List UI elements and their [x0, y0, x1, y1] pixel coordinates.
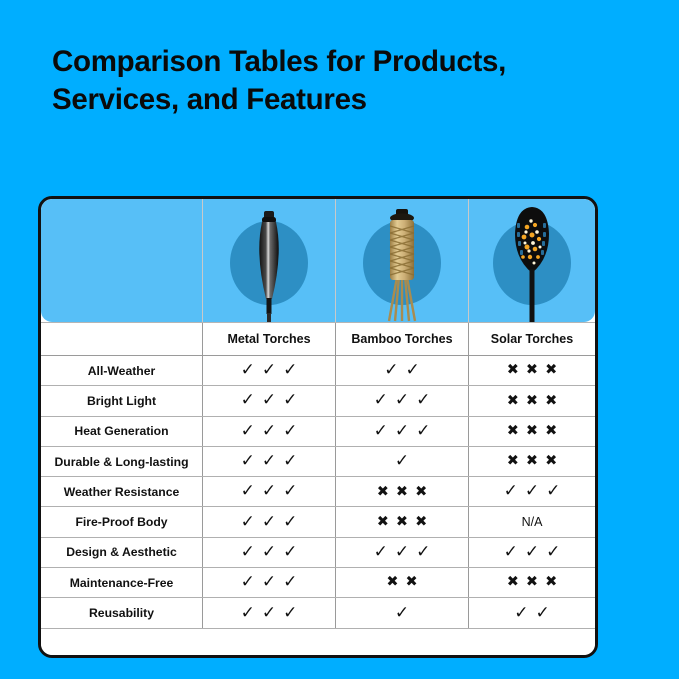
cross-icon: ✖ [415, 515, 427, 530]
cross-icon: ✖ [526, 363, 538, 378]
check-icon: ✓ [262, 392, 276, 409]
cross-icon: ✖ [507, 454, 519, 469]
header-cell-bamboo-torches [335, 199, 468, 322]
check-icon: ✓ [241, 423, 255, 440]
cross-icon: ✖ [406, 575, 418, 590]
rating-cell: ✖✖ [335, 568, 468, 597]
table-row: Bright Light✓✓✓✓✓✓✖✖✖ [41, 386, 595, 416]
rating-cell: ✓✓✓ [202, 568, 335, 597]
rating-marks: ✓✓ [384, 362, 420, 379]
rating-cell: ✖✖✖ [468, 447, 595, 476]
rating-cell: ✓✓✓ [202, 386, 335, 415]
row-feature-label: Durable & Long-lasting [41, 447, 202, 476]
cross-icon: ✖ [377, 515, 389, 530]
check-icon: ✓ [283, 362, 297, 379]
not-applicable-label: N/A [522, 516, 543, 529]
rating-cell: ✓✓✓ [468, 477, 595, 506]
rating-marks: ✖✖✖ [377, 485, 427, 500]
check-icon: ✓ [262, 423, 276, 440]
rating-marks: ✓✓ [514, 605, 550, 622]
rating-marks: ✓✓✓ [241, 605, 298, 622]
rating-cell: ✓✓✓ [335, 538, 468, 567]
header-cell-empty [41, 199, 202, 322]
check-icon: ✓ [395, 392, 409, 409]
rating-cell: ✖✖✖ [468, 417, 595, 446]
rating-cell: ✓✓ [335, 356, 468, 385]
rating-cell: ✓ [335, 447, 468, 476]
rating-marks: ✓✓✓ [241, 574, 298, 591]
check-icon: ✓ [374, 544, 388, 561]
check-icon: ✓ [395, 605, 409, 622]
table-row: Reusability✓✓✓✓✓✓ [41, 598, 595, 628]
rating-marks: ✖✖✖ [507, 394, 557, 409]
check-icon: ✓ [395, 453, 409, 470]
cross-icon: ✖ [526, 454, 538, 469]
rating-cell: ✖✖✖ [468, 386, 595, 415]
page-title: Comparison Tables for Products, Services… [52, 43, 632, 119]
rating-cell: ✖✖✖ [335, 507, 468, 536]
rating-cell: ✖✖✖ [335, 477, 468, 506]
check-icon: ✓ [241, 544, 255, 561]
comparison-table: Metal Torches Bamboo Torches Solar Torch… [38, 196, 598, 658]
cross-icon: ✖ [507, 575, 519, 590]
cross-icon: ✖ [545, 394, 557, 409]
check-icon: ✓ [283, 544, 297, 561]
check-icon: ✓ [262, 362, 276, 379]
table-row: Maintenance-Free✓✓✓✖✖✖✖✖ [41, 568, 595, 598]
check-icon: ✓ [525, 483, 539, 500]
rating-cell: N/A [468, 507, 595, 536]
check-icon: ✓ [241, 574, 255, 591]
product-image-header-band [41, 199, 595, 322]
check-icon: ✓ [504, 483, 518, 500]
check-icon: ✓ [406, 362, 420, 379]
column-label-row: Metal Torches Bamboo Torches Solar Torch… [41, 322, 595, 356]
table-row: Durable & Long-lasting✓✓✓✓✖✖✖ [41, 447, 595, 477]
check-icon: ✓ [283, 423, 297, 440]
rating-marks: ✓✓✓ [241, 453, 298, 470]
solar-torch-image [497, 199, 567, 322]
table-footer-strip [41, 629, 595, 658]
cross-icon: ✖ [507, 363, 519, 378]
rating-cell: ✓✓ [468, 598, 595, 627]
rating-cell: ✓✓✓ [202, 598, 335, 627]
check-icon: ✓ [262, 605, 276, 622]
check-icon: ✓ [546, 483, 560, 500]
rating-marks: ✖✖ [386, 575, 417, 590]
check-icon: ✓ [262, 574, 276, 591]
cross-icon: ✖ [507, 424, 519, 439]
rating-marks: ✓✓✓ [374, 423, 431, 440]
cross-icon: ✖ [545, 575, 557, 590]
table-row: Design & Aesthetic✓✓✓✓✓✓✓✓✓ [41, 538, 595, 568]
table-row: Weather Resistance✓✓✓✖✖✖✓✓✓ [41, 477, 595, 507]
check-icon: ✓ [283, 483, 297, 500]
check-icon: ✓ [416, 423, 430, 440]
check-icon: ✓ [416, 544, 430, 561]
check-icon: ✓ [395, 423, 409, 440]
check-icon: ✓ [241, 514, 255, 531]
cross-icon: ✖ [545, 363, 557, 378]
rating-marks: ✓ [395, 605, 409, 622]
check-icon: ✓ [504, 544, 518, 561]
rating-marks: ✓✓✓ [504, 544, 561, 561]
cross-icon: ✖ [526, 575, 538, 590]
metal-torch-image [234, 199, 304, 322]
rating-cell: ✓✓✓ [335, 417, 468, 446]
rating-marks: ✖✖✖ [507, 363, 557, 378]
check-icon: ✓ [384, 362, 398, 379]
check-icon: ✓ [546, 544, 560, 561]
rating-cell: ✓✓✓ [202, 477, 335, 506]
cross-icon: ✖ [526, 424, 538, 439]
row-feature-label: Reusability [41, 598, 202, 627]
rating-marks: ✓✓✓ [241, 362, 298, 379]
rating-cell: ✖✖✖ [468, 356, 595, 385]
check-icon: ✓ [283, 514, 297, 531]
cross-icon: ✖ [386, 575, 398, 590]
check-icon: ✓ [241, 605, 255, 622]
row-feature-label: Bright Light [41, 386, 202, 415]
check-icon: ✓ [283, 392, 297, 409]
cross-icon: ✖ [526, 394, 538, 409]
rating-cell: ✓✓✓ [202, 356, 335, 385]
check-icon: ✓ [262, 514, 276, 531]
check-icon: ✓ [416, 392, 430, 409]
check-icon: ✓ [241, 362, 255, 379]
table-row: All-Weather✓✓✓✓✓✖✖✖ [41, 356, 595, 386]
rating-marks: ✖✖✖ [377, 515, 427, 530]
rating-cell: ✓✓✓ [335, 386, 468, 415]
rating-cell: ✓✓✓ [202, 538, 335, 567]
column-label-empty [41, 323, 202, 355]
rating-marks: ✓✓✓ [504, 483, 561, 500]
check-icon: ✓ [395, 544, 409, 561]
cross-icon: ✖ [396, 515, 408, 530]
rating-marks: ✖✖✖ [507, 575, 557, 590]
row-feature-label: Maintenance-Free [41, 568, 202, 597]
cross-icon: ✖ [415, 485, 427, 500]
header-cell-solar-torches [468, 199, 595, 322]
rating-marks: ✓✓✓ [241, 423, 298, 440]
bamboo-torch-image [367, 199, 437, 322]
column-label-solar-torches: Solar Torches [468, 323, 595, 355]
rating-marks: N/A [522, 516, 543, 529]
rating-marks: ✓✓✓ [241, 483, 298, 500]
column-label-bamboo-torches: Bamboo Torches [335, 323, 468, 355]
check-icon: ✓ [283, 453, 297, 470]
rating-cell: ✓✓✓ [202, 507, 335, 536]
check-icon: ✓ [241, 483, 255, 500]
row-feature-label: Weather Resistance [41, 477, 202, 506]
row-feature-label: Fire-Proof Body [41, 507, 202, 536]
table-row: Fire-Proof Body✓✓✓✖✖✖N/A [41, 507, 595, 537]
check-icon: ✓ [262, 483, 276, 500]
table-rows: All-Weather✓✓✓✓✓✖✖✖Bright Light✓✓✓✓✓✓✖✖✖… [41, 356, 595, 629]
cross-icon: ✖ [545, 454, 557, 469]
rating-cell: ✓✓✓ [202, 417, 335, 446]
check-icon: ✓ [374, 423, 388, 440]
check-icon: ✓ [241, 453, 255, 470]
check-icon: ✓ [283, 605, 297, 622]
check-icon: ✓ [262, 544, 276, 561]
check-icon: ✓ [525, 544, 539, 561]
check-icon: ✓ [374, 392, 388, 409]
check-icon: ✓ [536, 605, 550, 622]
column-label-metal-torches: Metal Torches [202, 323, 335, 355]
rating-marks: ✓✓✓ [241, 544, 298, 561]
rating-cell: ✓✓✓ [468, 538, 595, 567]
rating-marks: ✓ [395, 453, 409, 470]
cross-icon: ✖ [507, 394, 519, 409]
cross-icon: ✖ [396, 485, 408, 500]
header-cell-metal-torches [202, 199, 335, 322]
check-icon: ✓ [262, 453, 276, 470]
rating-cell: ✖✖✖ [468, 568, 595, 597]
cross-icon: ✖ [377, 485, 389, 500]
rating-marks: ✖✖✖ [507, 424, 557, 439]
row-feature-label: All-Weather [41, 356, 202, 385]
rating-marks: ✓✓✓ [241, 392, 298, 409]
row-feature-label: Design & Aesthetic [41, 538, 202, 567]
rating-marks: ✓✓✓ [241, 514, 298, 531]
check-icon: ✓ [283, 574, 297, 591]
rating-marks: ✖✖✖ [507, 454, 557, 469]
cross-icon: ✖ [545, 424, 557, 439]
check-icon: ✓ [241, 392, 255, 409]
rating-marks: ✓✓✓ [374, 544, 431, 561]
table-row: Heat Generation✓✓✓✓✓✓✖✖✖ [41, 417, 595, 447]
rating-marks: ✓✓✓ [374, 392, 431, 409]
rating-cell: ✓✓✓ [202, 447, 335, 476]
rating-cell: ✓ [335, 598, 468, 627]
check-icon: ✓ [514, 605, 528, 622]
row-feature-label: Heat Generation [41, 417, 202, 446]
